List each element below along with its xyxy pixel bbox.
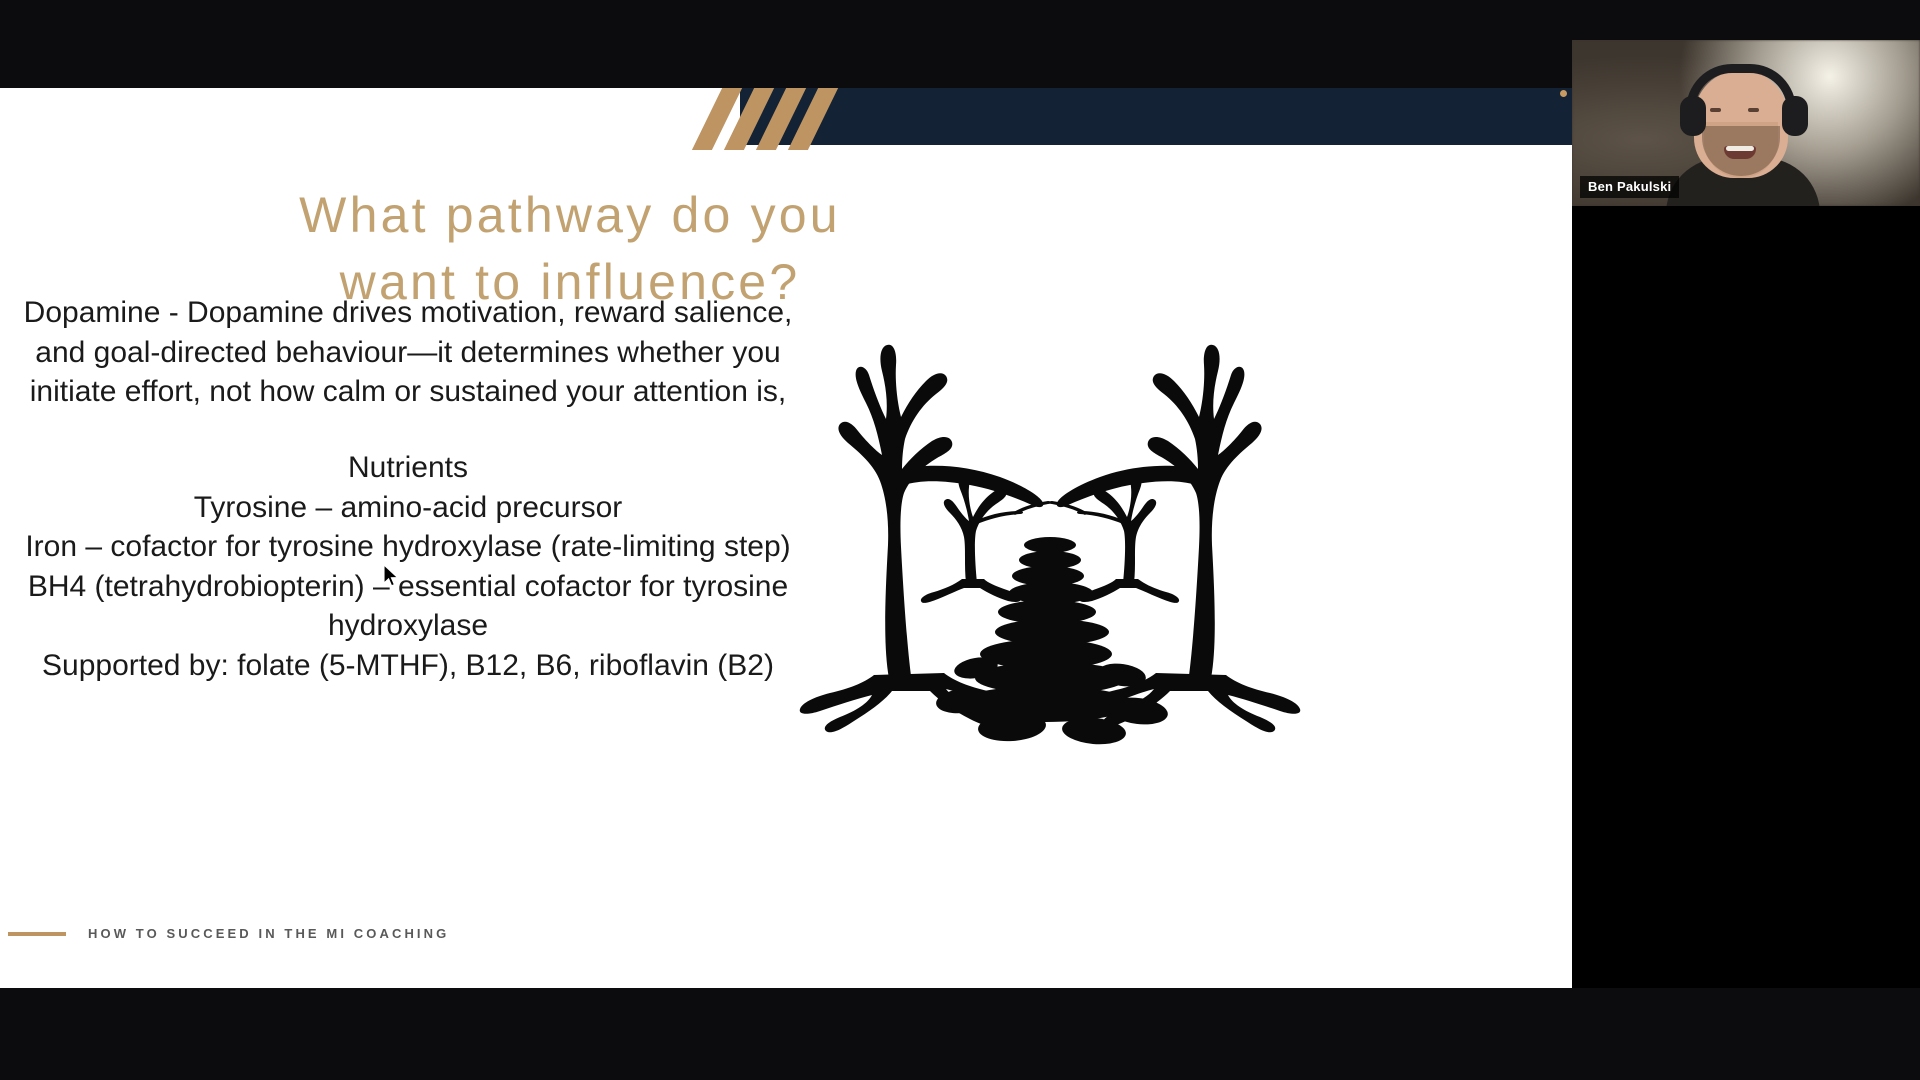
webcam-tile-ben-pakulski[interactable]: Ben Pakulski <box>1572 40 1920 206</box>
header-dot-decoration <box>1560 90 1567 97</box>
footer-rule-decoration <box>8 932 66 936</box>
footer-label: HOW TO SUCCEED IN THE MI COACHING <box>88 926 449 941</box>
nutrients-heading: Nutrients <box>8 448 808 488</box>
body-paragraph: Dopamine - Dopamine drives motivation, r… <box>8 293 808 412</box>
nutrient-line-bh4: BH4 (tetrahydrobiopterin) – essential co… <box>8 567 808 646</box>
nutrient-line-iron: Iron – cofactor for tyrosine hydroxylase… <box>8 527 808 567</box>
gold-stripes-decoration <box>700 88 880 145</box>
headphones-earcup-left-icon <box>1680 96 1706 136</box>
title-line-1: What pathway do you <box>299 187 841 243</box>
two-bare-trees-with-stone-path-illustration <box>770 283 1330 753</box>
screen-root: What pathway do you want to influence? D… <box>0 0 1920 1080</box>
nutrient-line-tyrosine: Tyrosine – amino-acid precursor <box>8 488 808 528</box>
letterbox-bottom <box>0 988 1920 1080</box>
webcam-participant-figure <box>1658 62 1828 206</box>
shared-slide[interactable]: What pathway do you want to influence? D… <box>0 88 1572 988</box>
nutrients-list: Nutrients Tyrosine – amino-acid precurso… <box>8 448 808 686</box>
slide-footer: HOW TO SUCCEED IN THE MI COACHING <box>8 926 449 941</box>
headphones-earcup-right-icon <box>1782 96 1808 136</box>
participant-teeth <box>1726 146 1754 151</box>
participant-name-label: Ben Pakulski <box>1580 176 1679 198</box>
nutrient-line-supported-by: Supported by: folate (5-MTHF), B12, B6, … <box>8 646 808 686</box>
